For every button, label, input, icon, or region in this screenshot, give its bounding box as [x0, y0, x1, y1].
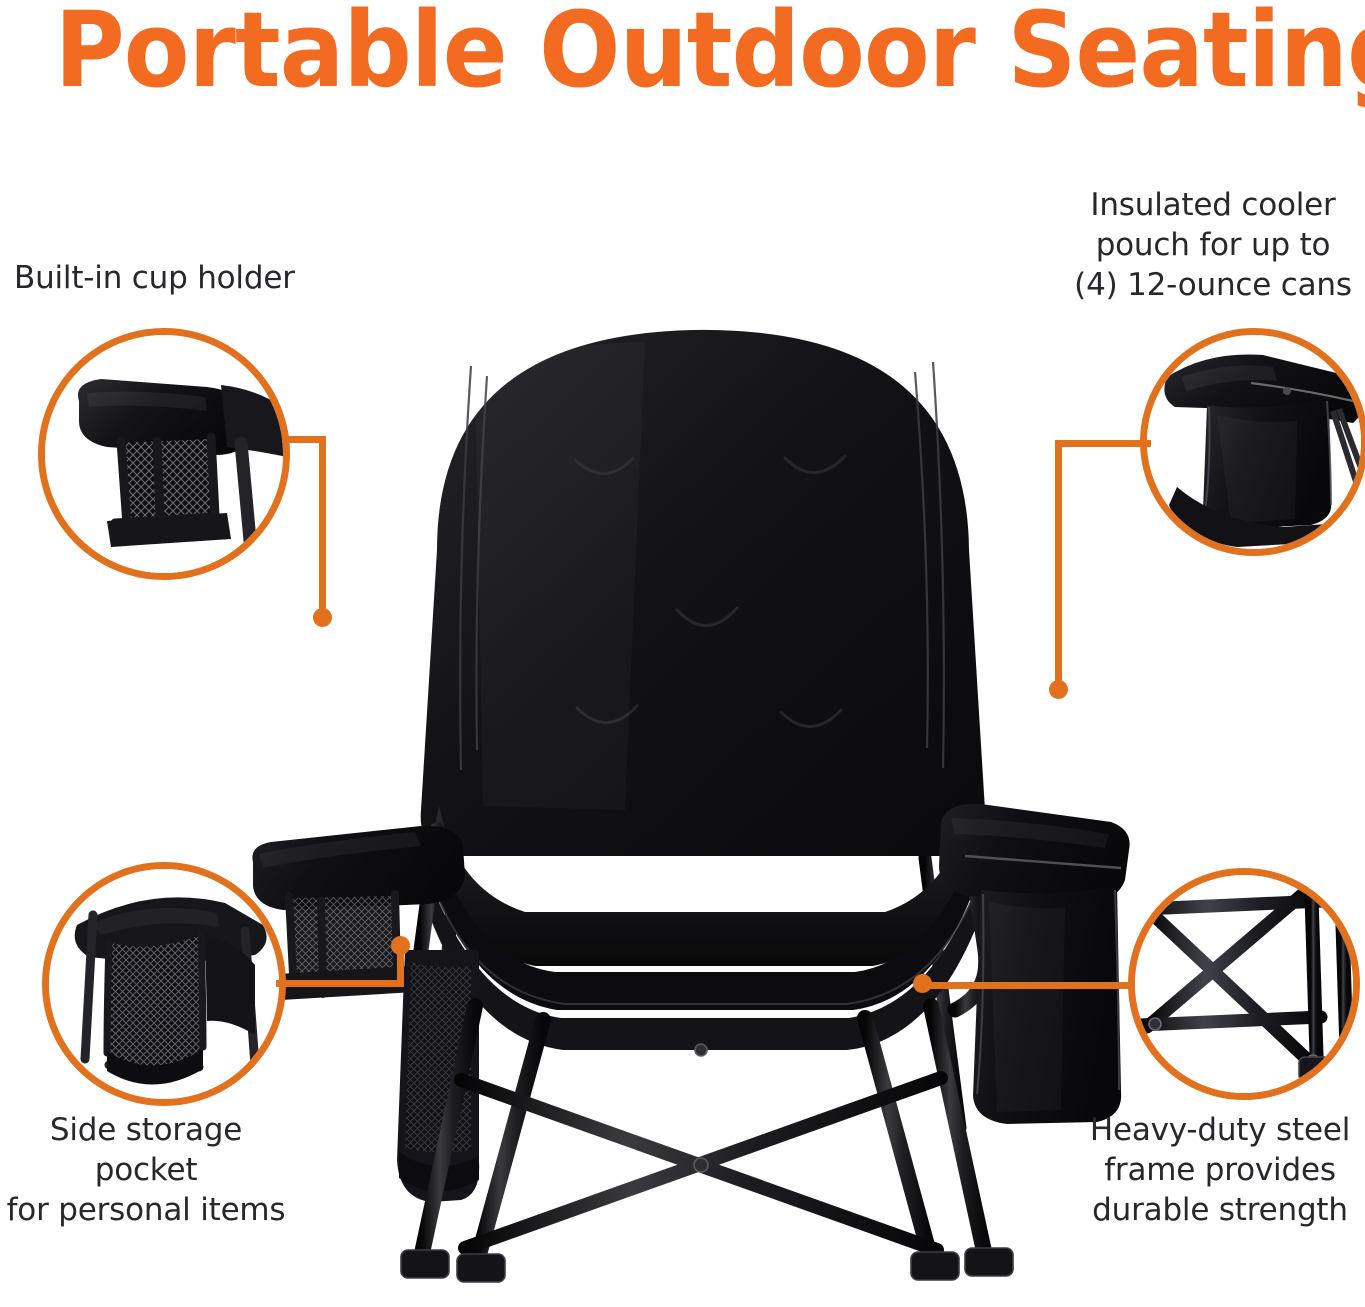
callout-circle-side-pocket: [42, 862, 286, 1106]
infographic-page: Portable Outdoor Seating: [0, 0, 1365, 1307]
caption-cooler-pouch-line-2: pouch for up to: [1065, 225, 1361, 265]
caption-steel-frame-line-2: frame provides: [1075, 1150, 1365, 1190]
caption-cup-holder-line-1: Built-in cup holder: [14, 258, 434, 298]
caption-side-pocket: Side storage pocket for personal items: [0, 1110, 292, 1230]
leader-dot-pocket: [391, 936, 410, 955]
leader-line-pocket-h: [276, 980, 404, 987]
caption-cooler-pouch-line-1: Insulated cooler: [1065, 185, 1361, 225]
caption-cooler-pouch: Insulated cooler pouch for up to (4) 12-…: [1065, 185, 1361, 305]
product-illustration: [225, 250, 1145, 1300]
leader-line-frame-h: [928, 982, 1133, 989]
caption-steel-frame-line-3: durable strength: [1075, 1190, 1365, 1230]
caption-steel-frame-line-1: Heavy-duty steel: [1075, 1110, 1365, 1150]
leader-dot-cup-holder: [313, 608, 332, 627]
leader-line-cooler-h: [1055, 440, 1151, 447]
callout-circle-cup-holder: [38, 328, 290, 580]
leader-line-cooler-v: [1055, 440, 1062, 688]
callout-circle-cooler-pouch: [1140, 328, 1365, 556]
leader-dot-cooler: [1049, 680, 1068, 699]
caption-side-pocket-line-1: Side storage pocket: [0, 1110, 292, 1190]
caption-cup-holder: Built-in cup holder: [14, 258, 434, 298]
caption-steel-frame: Heavy-duty steel frame provides durable …: [1075, 1110, 1365, 1230]
caption-cooler-pouch-line-3: (4) 12-ounce cans: [1065, 265, 1361, 305]
leader-line-cup-holder-v: [319, 436, 326, 618]
caption-side-pocket-line-2: for personal items: [0, 1190, 292, 1230]
leader-dot-frame: [913, 974, 932, 993]
callout-circle-steel-frame: [1128, 868, 1360, 1100]
page-title: Portable Outdoor Seating: [55, 0, 1311, 106]
